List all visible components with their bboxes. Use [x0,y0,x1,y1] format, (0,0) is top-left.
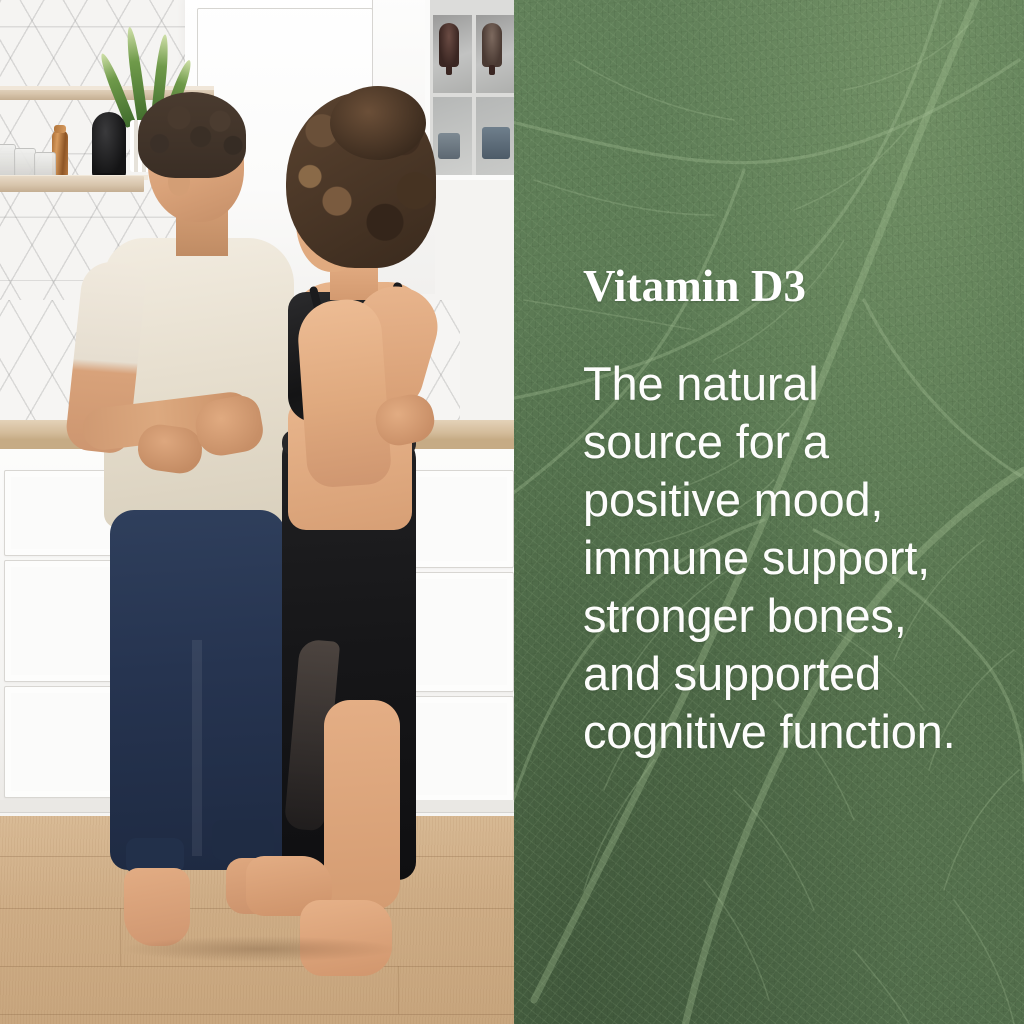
leaf-texture-panel: Vitamin D3 The natural source for a posi… [514,0,1024,1024]
body-line: The natural [583,355,1013,413]
floor-plank-seam [0,966,514,967]
body-line: immune support, [583,529,1013,587]
benefit-description: The natural source for a positive mood, … [583,355,1013,761]
man-leg-seam [192,640,202,856]
floating-shelf-lower [0,176,144,192]
woman-hair-bun [330,86,426,160]
woman-leg [324,700,400,910]
page-title: Vitamin D3 [583,264,1013,309]
body-line: cognitive function. [583,703,1013,761]
man-jogger-cuff [212,820,274,860]
wine-goblet [439,23,459,67]
body-line: source for a [583,413,1013,471]
woman-arm [296,297,393,488]
buddha-statue [92,112,126,178]
cabinet-drawer [4,560,124,682]
benefit-text-block: Vitamin D3 The natural source for a posi… [583,0,1013,1024]
wine-goblet [482,23,502,67]
floor-plank-seam [0,1014,514,1015]
ceramic-vessel [482,127,510,159]
glass-front-cabinet [425,0,514,180]
floor-plank-seam [398,966,399,1014]
lifestyle-photo [0,0,514,1024]
man-curly-hair [138,92,246,178]
cabinet-drawer [4,686,124,798]
product-benefit-card: Vitamin D3 The natural source for a posi… [0,0,1024,1024]
man-bare-foot [124,868,190,946]
body-line: and supported [583,645,1013,703]
floor-shadow [120,936,400,962]
ceramic-vessel [438,133,460,159]
body-line: positive mood, [583,471,1013,529]
body-line: stronger bones, [583,587,1013,645]
